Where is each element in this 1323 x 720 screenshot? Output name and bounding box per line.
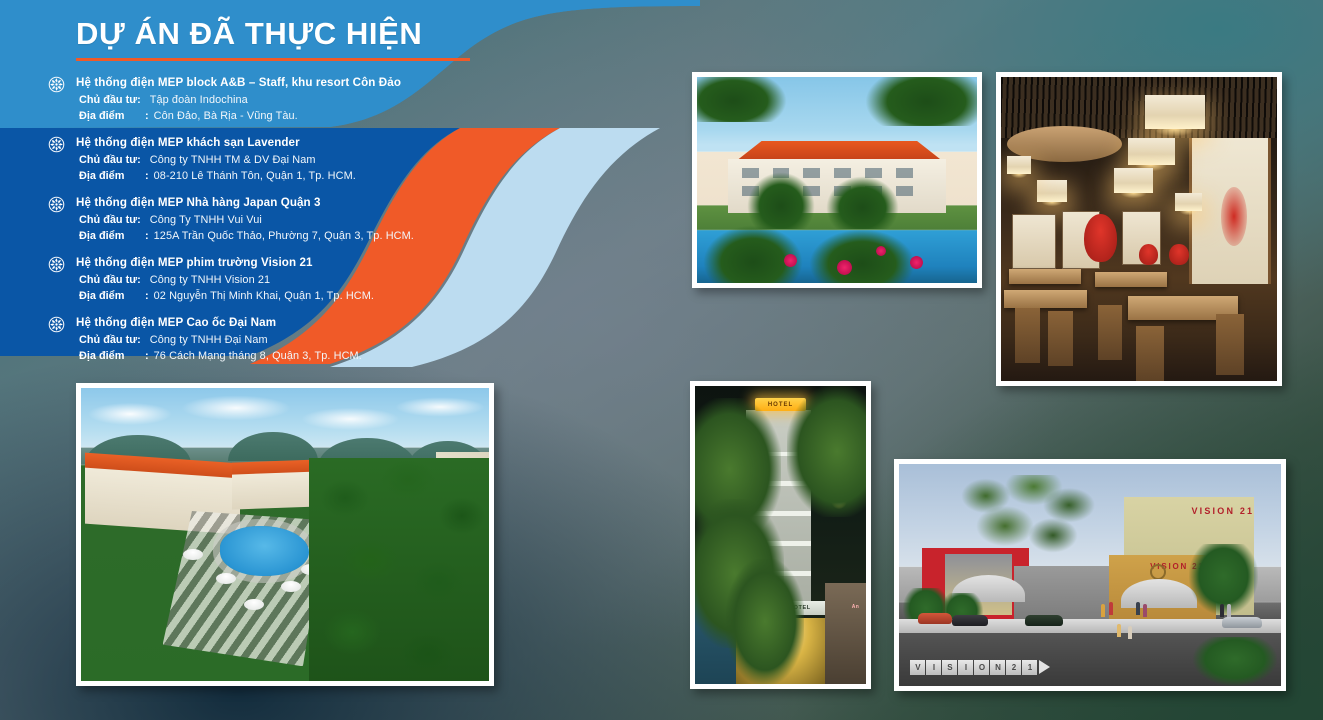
location-colon: : [141, 348, 154, 364]
flower [784, 254, 797, 267]
page-title: DỰ ÁN ĐÃ THỰC HIỆN [0, 0, 520, 51]
location-value: 08-210 Lê Thánh Tôn, Quận 1, Tp. HCM. [154, 168, 356, 184]
location-value: 125A Trần Quốc Thảo, Phường 7, Quận 3, T… [154, 228, 414, 244]
pinwheel-icon [48, 76, 65, 93]
project-name: Hệ thống điện MEP Nhà hàng Japan Quận 3 [76, 195, 520, 210]
list-item: Hệ thống điện MEP phim trường Vision 21 … [0, 255, 520, 304]
pedestrian [1128, 626, 1132, 639]
investor-value: Công ty TNHH TM & DV Đại Nam [150, 152, 316, 168]
photo-white-lion-hotel: HOTEL WHITE LION HOTEL DA An [690, 381, 871, 689]
project-list: Hệ thống điện MEP block A&B – Staff, khu… [0, 75, 520, 364]
building-facade [232, 471, 322, 509]
car [952, 615, 988, 626]
project-location-row: Địa điểm : Côn Đảo, Bà Rịa - Vũng Tàu. [76, 108, 520, 124]
project-name: Hệ thống điện MEP khách sạn Lavender [76, 135, 520, 150]
street-tree [787, 386, 866, 517]
badge-letter: 2 [1006, 660, 1021, 675]
paper-lantern [1145, 95, 1206, 128]
paper-lantern [1007, 156, 1032, 174]
photo-resort-front-image [697, 77, 977, 283]
pedestrian [1101, 604, 1105, 617]
vision21-wall-logo: VISION 21 [1191, 506, 1254, 516]
project-investor-row: Chủ đầu tư: Công Ty TNHH Vui Vui [76, 212, 520, 228]
car [918, 613, 952, 624]
paper-lantern [1128, 138, 1175, 165]
wall-artwork [1084, 214, 1117, 263]
garden-palm [747, 172, 814, 230]
palm-frond [865, 77, 977, 126]
badge-letter: O [974, 660, 989, 675]
investor-label: Chủ đầu tư: [79, 272, 141, 288]
project-location-row: Địa điểm : 125A Trần Quốc Thảo, Phường 7… [76, 228, 520, 244]
shop-right [825, 583, 866, 684]
project-investor-row: Chủ đầu tư: Công ty TNHH Đại Nam [76, 332, 520, 348]
car [1025, 615, 1063, 626]
pinwheel-icon [48, 316, 65, 333]
project-name: Hệ thống điện MEP Cao ốc Đại Nam [76, 315, 520, 330]
list-item: Hệ thống điện MEP block A&B – Staff, khu… [0, 75, 520, 124]
street-tree [726, 559, 805, 684]
pedestrian [1220, 604, 1224, 617]
project-investor-row: Chủ đầu tư: Công ty TNHH TM & DV Đại Nam [76, 152, 520, 168]
photo-vision21-render: VISION 21 VISION 21 [894, 459, 1286, 691]
badge-letter: S [942, 660, 957, 675]
flower [910, 256, 923, 269]
photo-resort-aerial-image [81, 388, 489, 681]
list-item: Hệ thống điện MEP khách sạn Lavender Chủ… [0, 135, 520, 184]
photo-resort-aerial [76, 383, 494, 686]
location-colon: : [141, 228, 154, 244]
poster-page: DỰ ÁN ĐÃ THỰC HIỆN [0, 0, 1323, 720]
investor-label: Chủ đầu tư: [79, 212, 141, 228]
palm-tree [1189, 544, 1258, 615]
umbrella [244, 599, 264, 610]
project-location-row: Địa điểm : 02 Nguyễn Thị Minh Khai, Quận… [76, 288, 520, 304]
badge-letter: V [910, 660, 925, 675]
investor-label: Chủ đầu tư: [79, 92, 141, 108]
pedestrian [1109, 602, 1113, 615]
projects-banner: DỰ ÁN ĐÃ THỰC HIỆN [0, 0, 700, 372]
swimming-pool [220, 526, 310, 576]
banner-content: DỰ ÁN ĐÃ THỰC HIỆN [0, 0, 520, 375]
location-value: Côn Đảo, Bà Rịa - Vũng Tàu. [154, 108, 298, 124]
project-location-row: Địa điểm : 08-210 Lê Thánh Tôn, Quận 1, … [76, 168, 520, 184]
location-label: Địa điểm [79, 288, 141, 304]
pinwheel-icon [48, 196, 65, 213]
pedestrian [1117, 624, 1121, 637]
investor-label: Chủ đầu tư: [79, 332, 141, 348]
location-label: Địa điểm [79, 348, 141, 364]
wooden-chair [1048, 311, 1073, 366]
wooden-chair [1098, 305, 1123, 360]
photo-white-lion-hotel-image: HOTEL WHITE LION HOTEL DA An [695, 386, 866, 684]
project-name: Hệ thống điện MEP phim trường Vision 21 [76, 255, 520, 270]
pinwheel-icon [48, 256, 65, 273]
foreground-shrub [1193, 637, 1277, 686]
location-label: Địa điểm [79, 228, 141, 244]
red-drum [1169, 244, 1188, 265]
paper-lantern [1114, 168, 1153, 192]
garden-shrub [809, 229, 915, 283]
vision21-badge: V I S I O N 2 1 [910, 660, 1050, 675]
palm-grove [309, 458, 489, 681]
location-colon: : [141, 108, 154, 124]
photo-resort-front [692, 72, 982, 288]
garden-palm [826, 176, 899, 230]
project-location-row: Địa điểm : 76 Cách Mạng tháng 8, Quận 3,… [76, 348, 520, 364]
badge-arrow-icon [1039, 660, 1050, 674]
investor-value: Công Ty TNHH Vui Vui [150, 212, 262, 228]
dining-table [1009, 269, 1081, 284]
building-roof [719, 141, 954, 160]
location-value: 02 Nguyễn Thị Minh Khai, Quận 1, Tp. HCM… [154, 288, 374, 304]
badge-letter: I [958, 660, 973, 675]
shoji-panel [1012, 214, 1056, 269]
project-investor-row: Chủ đầu tư: Tập đoàn Indochina [76, 92, 520, 108]
dining-table [1095, 272, 1167, 287]
investor-value: Công ty TNHH Vision 21 [150, 272, 270, 288]
umbrella [216, 573, 236, 584]
investor-value: Tập đoàn Indochina [150, 92, 248, 108]
pedestrian [1143, 604, 1147, 617]
title-underline [76, 58, 470, 61]
photo-japanese-restaurant-image [1001, 77, 1277, 381]
badge-letter: N [990, 660, 1005, 675]
painted-screen [1189, 138, 1272, 284]
badge-letter: I [926, 660, 941, 675]
project-name: Hệ thống điện MEP block A&B – Staff, khu… [76, 75, 520, 90]
badge-letter: 1 [1022, 660, 1037, 675]
wooden-chair [1015, 308, 1040, 363]
shop-right-label: An [852, 604, 859, 610]
paper-lantern [1175, 193, 1203, 211]
wooden-chair [1216, 314, 1244, 375]
pinwheel-icon [48, 136, 65, 153]
pedestrian [1227, 604, 1231, 617]
list-item: Hệ thống điện MEP Cao ốc Đại Nam Chủ đầu… [0, 315, 520, 364]
location-colon: : [141, 168, 154, 184]
paper-lantern [1037, 180, 1067, 201]
photo-vision21-render-image: VISION 21 VISION 21 [899, 464, 1281, 686]
investor-value: Công ty TNHH Đại Nam [150, 332, 268, 348]
pedestrian [1136, 602, 1140, 615]
location-value: 76 Cách Mạng tháng 8, Quận 3, Tp. HCM. [154, 348, 362, 364]
red-drum [1139, 244, 1158, 265]
photo-japanese-restaurant [996, 72, 1282, 386]
location-colon: : [141, 288, 154, 304]
wooden-chair [1136, 326, 1164, 381]
location-label: Địa điểm [79, 168, 141, 184]
location-label: Địa điểm [79, 108, 141, 124]
project-investor-row: Chủ đầu tư: Công ty TNHH Vision 21 [76, 272, 520, 288]
list-item: Hệ thống điện MEP Nhà hàng Japan Quận 3 … [0, 195, 520, 244]
car [1222, 617, 1262, 628]
dining-table [1004, 290, 1087, 308]
investor-label: Chủ đầu tư: [79, 152, 141, 168]
palm-frond [697, 77, 787, 122]
